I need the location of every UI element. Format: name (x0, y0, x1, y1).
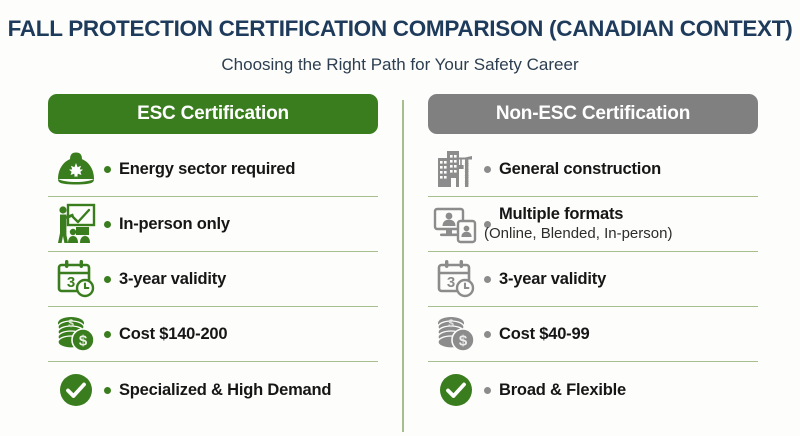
column-esc: ESC Certification Energy sector required (48, 94, 378, 418)
coins-stack-dollar-icon: $ $ (48, 311, 104, 357)
column-header-label: Non-ESC Certification (496, 103, 690, 125)
calendar-year-number: 3 (67, 274, 75, 291)
list-item-label: In-person only (119, 215, 230, 234)
list-item: Multiple formats (Online, Blended, In-pe… (428, 197, 758, 252)
list-item-content: Broad & Flexible (484, 381, 758, 400)
classroom-instructor-icon (48, 201, 104, 247)
column-rows-non-esc: General construction (428, 142, 758, 418)
column-header-label: ESC Certification (137, 103, 289, 125)
page-subtitle: Choosing the Right Path for Your Safety … (0, 55, 800, 75)
list-item: In-person only (48, 197, 378, 252)
calendar-clock-icon: 3 (428, 256, 484, 302)
bullet-icon (484, 387, 491, 394)
list-item-label: General construction (499, 160, 661, 179)
list-item: Specialized & High Demand (48, 362, 378, 418)
list-item-content: Energy sector required (104, 160, 378, 179)
check-circle-icon (428, 367, 484, 413)
column-header-non-esc: Non-ESC Certification (428, 94, 758, 134)
bullet-icon (484, 276, 491, 283)
svg-text:$: $ (459, 333, 468, 350)
list-item-content: 3-year validity (484, 270, 758, 289)
svg-text:$: $ (79, 333, 88, 350)
calendar-clock-icon: 3 (48, 256, 104, 302)
building-crane-icon (428, 146, 484, 192)
column-rows-esc: Energy sector required (48, 142, 378, 418)
list-item: 3 3-year validity (48, 252, 378, 307)
list-item-text: Energy sector required (119, 160, 295, 179)
bullet-icon (484, 331, 491, 338)
list-item-text: Multiple formats (Online, Blended, In-pe… (499, 205, 672, 242)
list-item-text: In-person only (119, 215, 230, 234)
svg-text:$: $ (68, 319, 74, 330)
bullet-icon (484, 166, 491, 173)
bullet-icon (104, 221, 111, 228)
list-item-content: Multiple formats (Online, Blended, In-pe… (484, 205, 758, 242)
list-item-content: 3-year validity (104, 270, 378, 289)
list-item: Broad & Flexible (428, 362, 758, 418)
bullet-icon (104, 387, 111, 394)
comparison-columns: ESC Certification Energy sector required (0, 94, 800, 436)
list-item-text: Cost $40-99 (499, 325, 589, 344)
page-title: FALL PROTECTION CERTIFICATION COMPARISON… (0, 16, 800, 42)
list-item: $ $ Cost $40-99 (428, 307, 758, 362)
svg-text:$: $ (448, 319, 454, 330)
check-circle-icon (48, 367, 104, 413)
list-item-text: Specialized & High Demand (119, 381, 331, 400)
list-item-label: Multiple formats (499, 205, 672, 224)
column-header-esc: ESC Certification (48, 94, 378, 134)
list-item: 3 3-year validity (428, 252, 758, 307)
list-item-label: Cost $40-99 (499, 325, 589, 344)
list-item-label: Cost $140-200 (119, 325, 227, 344)
coins-stack-dollar-icon: $ $ (428, 311, 484, 357)
monitor-tablet-icon (428, 201, 484, 247)
calendar-year-number: 3 (447, 274, 455, 291)
list-item: General construction (428, 142, 758, 197)
bullet-icon (104, 331, 111, 338)
list-item-text: 3-year validity (499, 270, 606, 289)
list-item-text: 3-year validity (119, 270, 226, 289)
list-item-label: 3-year validity (119, 270, 226, 289)
list-item-label: 3-year validity (499, 270, 606, 289)
list-item-content: Specialized & High Demand (104, 381, 378, 400)
list-item-content: General construction (484, 160, 758, 179)
hard-hat-maple-leaf-icon (48, 146, 104, 192)
list-item-content: Cost $140-200 (104, 325, 378, 344)
bullet-icon (104, 166, 111, 173)
list-item-content: In-person only (104, 215, 378, 234)
list-item-text: Broad & Flexible (499, 381, 626, 400)
list-item-text: General construction (499, 160, 661, 179)
column-non-esc: Non-ESC Certification (428, 94, 758, 418)
list-item: Energy sector required (48, 142, 378, 197)
list-item: $ $ Cost $140-200 (48, 307, 378, 362)
list-item-label: Energy sector required (119, 160, 295, 179)
list-item-text: Cost $140-200 (119, 325, 227, 344)
bullet-icon (104, 276, 111, 283)
list-item-label: Broad & Flexible (499, 381, 626, 400)
list-item-sublabel: (Online, Blended, In-person) (484, 225, 672, 242)
list-item-content: Cost $40-99 (484, 325, 758, 344)
list-item-label: Specialized & High Demand (119, 381, 331, 400)
